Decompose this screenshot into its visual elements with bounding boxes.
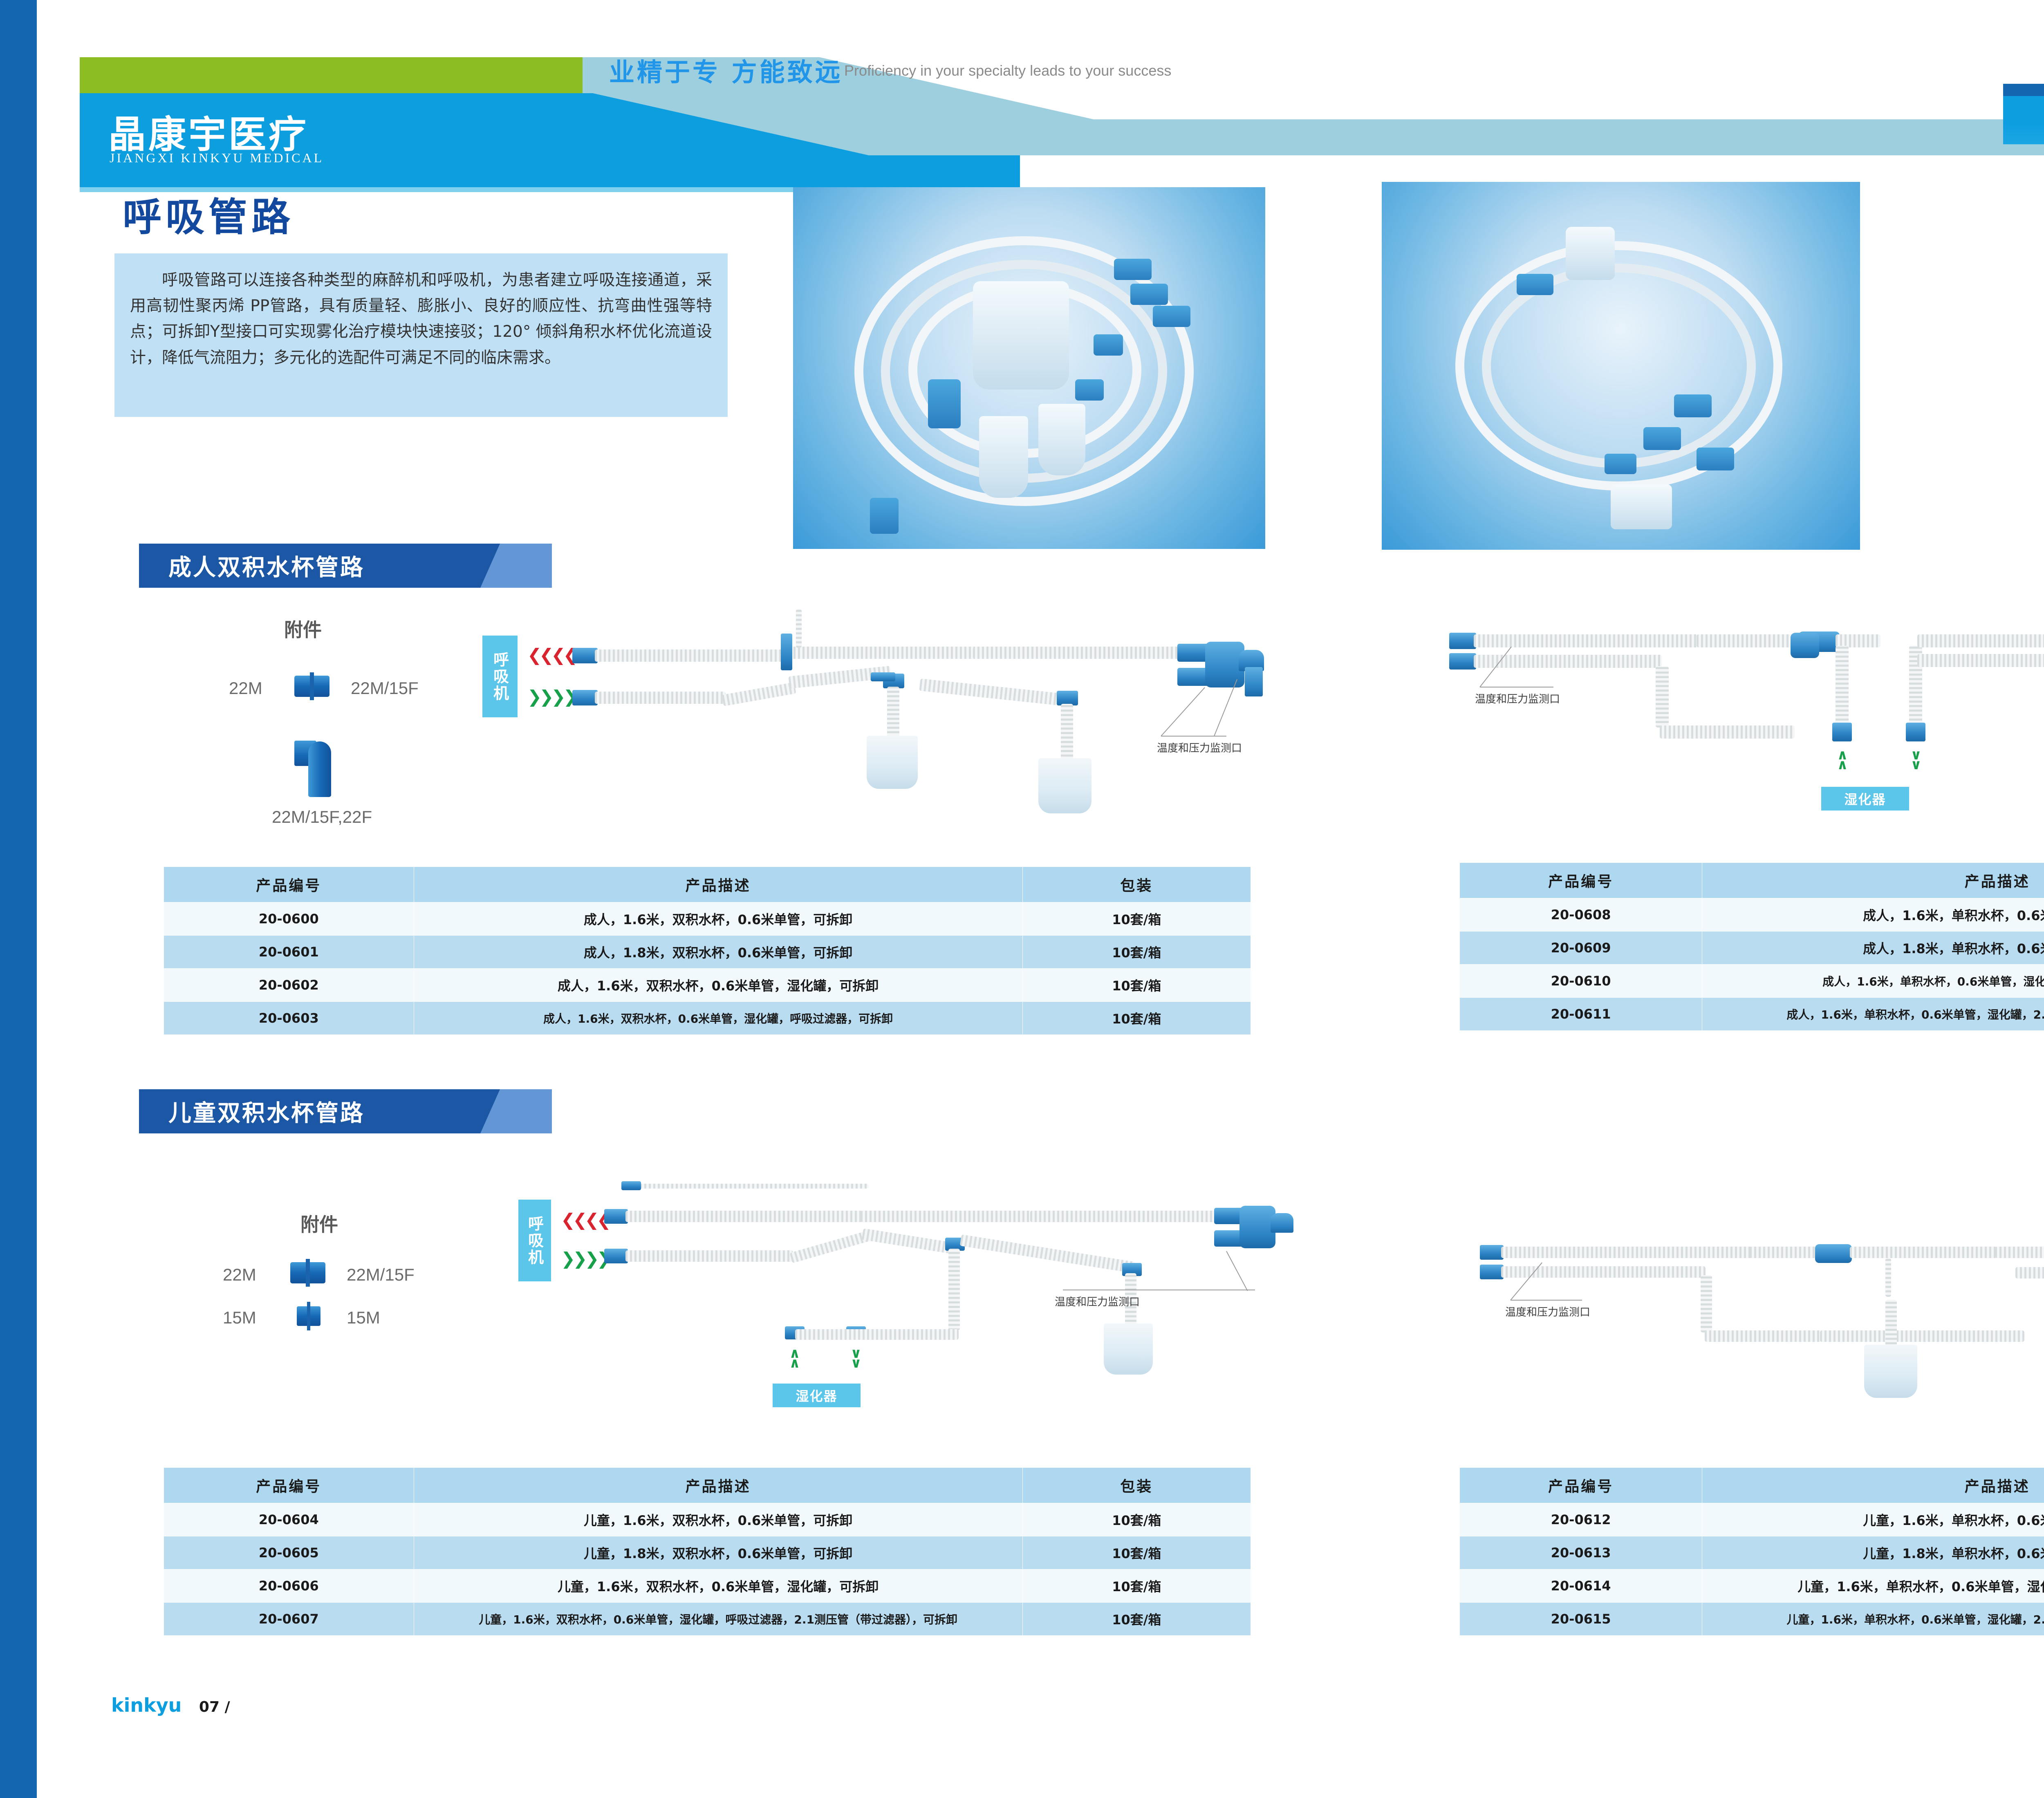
cell-code: 20-0606	[164, 1570, 414, 1603]
cell-code: 20-0615	[1460, 1603, 1702, 1636]
table-row: 20-0601成人，1.8米，双积水杯，0.6米单管，可拆卸10套/箱	[164, 936, 1251, 969]
col-header-desc: 产品描述	[414, 867, 1022, 902]
cell-code: 20-0605	[164, 1536, 414, 1570]
cell-desc: 成人，1.8米，单积水杯，0.6米单管，可拆卸	[1702, 931, 2044, 965]
cell-desc: 成人，1.8米，双积水杯，0.6米单管，可拆卸	[414, 936, 1022, 969]
cell-code: 20-0613	[1460, 1536, 1702, 1570]
col-header-pack: 包装	[1022, 1468, 1251, 1503]
left-edge-bar	[0, 0, 37, 1798]
cell-pack: 10套/箱	[1022, 1503, 1251, 1536]
inhale-arrows-1: ❮❮❮❮	[527, 645, 575, 665]
cell-pack: 10套/箱	[1022, 1570, 1251, 1603]
accessory-label-below-1: 22M/15F,22F	[272, 807, 372, 827]
product-table-adult-single: 产品编号 产品描述 包装 20-0608成人，1.6米，单积水杯，0.6米单管，…	[1459, 862, 2044, 1031]
footer-page-left: 07 /	[199, 1699, 230, 1715]
table-row: 20-0605儿童，1.8米，双积水杯，0.6米单管，可拆卸10套/箱	[164, 1536, 1251, 1570]
banner-dark-strip	[2003, 84, 2044, 96]
section-header-adult-dual: 成人双积水杯管路	[139, 544, 552, 588]
table-row: 20-0611成人，1.6米，单积水杯，0.6米单管，湿化罐，2.1米测压管（带…	[1460, 998, 2044, 1031]
cell-code: 20-0608	[1460, 898, 1702, 931]
cell-desc: 成人，1.6米，双积水杯，0.6米单管，湿化罐，呼吸过滤器，可拆卸	[414, 1002, 1022, 1035]
col-header-desc: 产品描述	[1702, 1468, 2044, 1503]
cell-desc: 成人，1.6米，单积水杯，0.6米单管，湿化罐，呼吸过滤器，可拆卸	[1702, 965, 2044, 998]
elbow-connector-icon	[294, 736, 334, 797]
cell-code: 20-0601	[164, 936, 414, 969]
product-table-child-single: 产品编号 产品描述 包装 20-0612儿童，1.6米，单积水杯，0.6米单管，…	[1459, 1467, 2044, 1636]
product-table-adult-dual: 产品编号 产品描述 包装 20-0600成人，1.6米，双积水杯，0.6米单管，…	[164, 867, 1251, 1035]
cell-desc: 儿童，1.8米，单积水杯，0.6米单管，可拆卸	[1702, 1536, 2044, 1570]
cell-pack: 10套/箱	[1022, 936, 1251, 969]
cell-pack: 10套/箱	[1022, 1536, 1251, 1570]
header-green-accent	[80, 57, 583, 93]
humidifier-tag-3: 湿化器	[773, 1384, 861, 1407]
table-row: 20-0606儿童，1.6米，双积水杯，0.6米单管，湿化罐，可拆卸10套/箱	[164, 1570, 1251, 1603]
cell-pack: 10套/箱	[1022, 1603, 1251, 1636]
col-header-pack: 包装	[1022, 867, 1251, 902]
inhale-arrows-3: ❮❮❮❮	[561, 1210, 609, 1230]
cell-desc: 成人，1.6米，双积水杯，0.6米单管，可拆卸	[414, 902, 1022, 936]
cell-pack: 10套/箱	[1022, 902, 1251, 936]
accessory-label-left-4: 15M	[223, 1308, 256, 1328]
cell-pack: 10套/箱	[1022, 969, 1251, 1002]
footer-brand-left: kinkyu	[111, 1694, 182, 1716]
slogan-cn: 业精于专 方能致远	[609, 51, 843, 88]
accessory-label-right-1: 22M/15F	[351, 678, 419, 698]
diagram-label-temp-pressure-1: 温度和压力监测口	[1157, 740, 1242, 755]
straight-connector-small-icon	[297, 1306, 320, 1326]
intro-box: 呼吸管路可以连接各种类型的麻醉机和呼吸机，为患者建立呼吸连接通道，采用高韧性聚丙…	[114, 253, 728, 417]
col-header-code: 产品编号	[164, 867, 414, 902]
cell-desc: 成人，1.6米，单积水杯，0.6米单管，湿化罐，2.1米测压管（带过滤器），可拆…	[1702, 998, 2044, 1031]
cell-code: 20-0604	[164, 1503, 414, 1536]
accessories-title-adult-dual: 附件	[284, 615, 322, 642]
cell-desc: 儿童，1.6米，双积水杯，0.6米单管，湿化罐，可拆卸	[414, 1570, 1022, 1603]
table-row: 20-0613儿童，1.8米，单积水杯，0.6米单管，可拆卸10套/箱	[1460, 1536, 2044, 1570]
section-title-adult-dual: 成人双积水杯管路	[168, 549, 365, 582]
header-pale-band-right	[1063, 119, 2044, 155]
cell-desc: 儿童，1.6米，单积水杯，0.6米单管，湿化罐，呼吸过滤器，可拆卸	[1702, 1570, 2044, 1603]
table-row: 20-0614儿童，1.6米，单积水杯，0.6米单管，湿化罐，呼吸过滤器，可拆卸…	[1460, 1570, 2044, 1603]
table-row: 20-0612儿童，1.6米，单积水杯，0.6米单管，可拆卸10套/箱	[1460, 1503, 2044, 1536]
product-table-child-dual: 产品编号 产品描述 包装 20-0604儿童，1.6米，双积水杯，0.6米单管，…	[164, 1467, 1251, 1636]
table-row: 20-0608成人，1.6米，单积水杯，0.6米单管，可拆卸10套/箱	[1460, 898, 2044, 931]
product-introduction-banner	[2003, 96, 2044, 144]
diagram-label-temp-pressure-4: 温度和压力监测口	[1505, 1304, 1590, 1319]
accessory-label-left-3: 22M	[223, 1265, 256, 1285]
col-header-desc: 产品描述	[1702, 863, 2044, 898]
col-header-code: 产品编号	[1460, 1468, 1702, 1503]
brand-logo-en: JIANGXI KINKYU MEDICAL	[110, 150, 324, 166]
left-inner-gap	[37, 0, 80, 1798]
accessory-label-right-3: 22M/15F	[347, 1265, 415, 1285]
cell-code: 20-0607	[164, 1603, 414, 1636]
cell-pack: 10套/箱	[1022, 1002, 1251, 1035]
table-row: 20-0615儿童，1.6米，单积水杯，0.6米单管，湿化罐，2.1米测压管（带…	[1460, 1603, 2044, 1636]
cell-desc: 儿童，1.6米，双积水杯，0.6米单管，可拆卸	[414, 1503, 1022, 1536]
cell-code: 20-0609	[1460, 931, 1702, 965]
exhale-arrows-1: ❯❯❯❯	[527, 687, 575, 707]
diagram-label-temp-pressure-3: 温度和压力监测口	[1055, 1294, 1140, 1309]
cell-desc: 儿童，1.6米，单积水杯，0.6米单管，湿化罐，2.1米测压管（带过滤器），可拆…	[1702, 1603, 2044, 1636]
cell-desc: 成人，1.6米，单积水杯，0.6米单管，可拆卸	[1702, 898, 2044, 931]
accessory-label-right-4: 15M	[347, 1308, 380, 1328]
col-header-desc: 产品描述	[414, 1468, 1022, 1503]
cell-desc: 儿童，1.6米，单积水杯，0.6米单管，可拆卸	[1702, 1503, 2044, 1536]
col-header-code: 产品编号	[1460, 863, 1702, 898]
table-row: 20-0603成人，1.6米，双积水杯，0.6米单管，湿化罐，呼吸过滤器，可拆卸…	[164, 1002, 1251, 1035]
cell-desc: 儿童，1.6米，双积水杯，0.6米单管，湿化罐，呼吸过滤器，2.1测压管（带过滤…	[414, 1603, 1022, 1636]
cell-desc: 成人，1.6米，双积水杯，0.6米单管，湿化罐，可拆卸	[414, 969, 1022, 1002]
cell-code: 20-0611	[1460, 998, 1702, 1031]
table-row: 20-0600成人，1.6米，双积水杯，0.6米单管，可拆卸10套/箱	[164, 902, 1251, 936]
cell-code: 20-0600	[164, 902, 414, 936]
cell-desc: 儿童，1.8米，双积水杯，0.6米单管，可拆卸	[414, 1536, 1022, 1570]
cell-code: 20-0603	[164, 1002, 414, 1035]
cell-code: 20-0602	[164, 969, 414, 1002]
accessory-label-left-1: 22M	[229, 678, 262, 698]
intro-text: 呼吸管路可以连接各种类型的麻醉机和呼吸机，为患者建立呼吸连接通道，采用高韧性聚丙…	[130, 267, 712, 371]
cell-code: 20-0612	[1460, 1503, 1702, 1536]
table-row: 20-0609成人，1.8米，单积水杯，0.6米单管，可拆卸10套/箱	[1460, 931, 2044, 965]
footer-left: kinkyu 07 /	[111, 1694, 230, 1716]
page-title: 呼吸管路	[123, 186, 294, 242]
humidifier-tag-2: 湿化器	[1821, 787, 1909, 811]
section-header-child-dual: 儿童双积水杯管路	[139, 1089, 552, 1133]
ventilator-tag-3: 呼吸机	[518, 1200, 551, 1281]
col-header-code: 产品编号	[164, 1468, 414, 1503]
cell-code: 20-0614	[1460, 1570, 1702, 1603]
straight-connector-icon	[294, 676, 329, 697]
slogan-en: Proficiency in your specialty leads to y…	[844, 62, 1171, 79]
accessories-title-child-dual: 附件	[300, 1210, 338, 1237]
diagram-label-temp-pressure-2: 温度和压力监测口	[1475, 691, 1560, 706]
table-row: 20-0607儿童，1.6米，双积水杯，0.6米单管，湿化罐，呼吸过滤器，2.1…	[164, 1603, 1251, 1636]
exhale-arrows-3: ❯❯❯❯	[561, 1249, 609, 1269]
cell-code: 20-0610	[1460, 965, 1702, 998]
table-row: 20-0604儿童，1.6米，双积水杯，0.6米单管，可拆卸10套/箱	[164, 1503, 1251, 1536]
table-row: 20-0610成人，1.6米，单积水杯，0.6米单管，湿化罐，呼吸过滤器，可拆卸…	[1460, 965, 2044, 998]
product-photo-dual-circuit	[793, 187, 1265, 549]
product-photo-single-circuit	[1382, 182, 1860, 550]
ventilator-tag-1: 呼吸机	[482, 636, 518, 717]
straight-connector-icon	[290, 1262, 325, 1283]
section-title-child-dual: 儿童双积水杯管路	[168, 1095, 365, 1128]
catalog-spread: 晶康宇医疗 JIANGXI KINKYU MEDICAL 业精于专 方能致远 P…	[0, 0, 2044, 1798]
table-row: 20-0602成人，1.6米，双积水杯，0.6米单管，湿化罐，可拆卸10套/箱	[164, 969, 1251, 1002]
